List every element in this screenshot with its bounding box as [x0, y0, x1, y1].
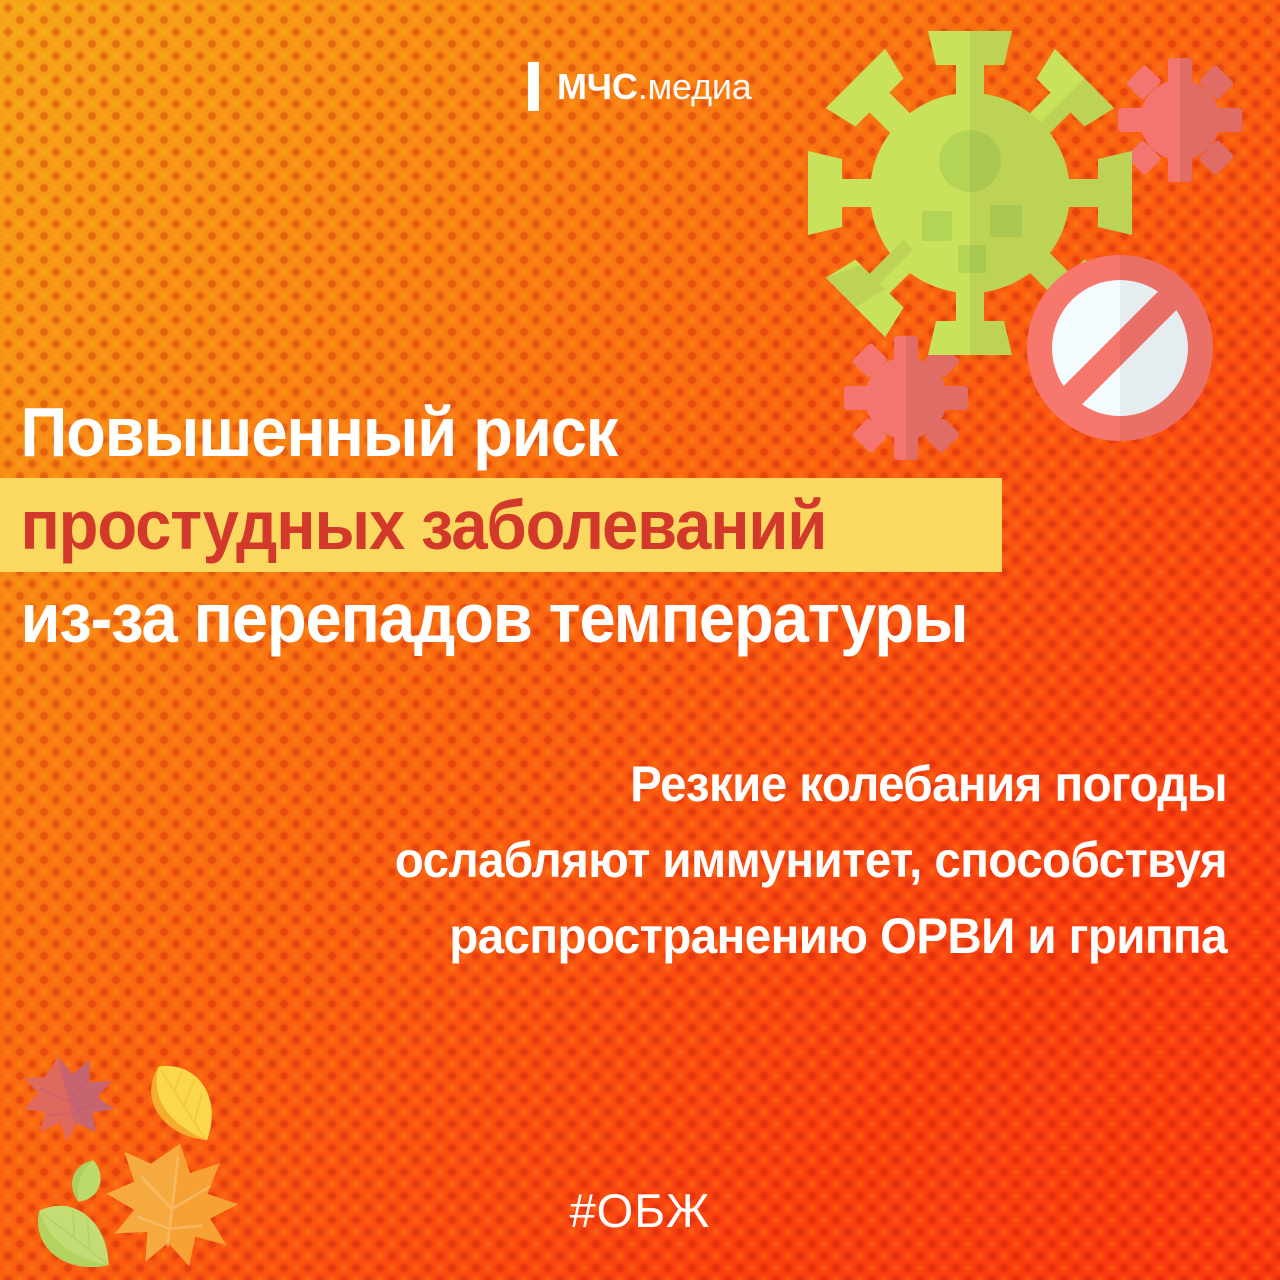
subheading-line-3: распространению ОРВИ и гриппа: [106, 898, 1227, 974]
headline-line-1: Повышенный риск: [0, 386, 1190, 478]
brand-logo[interactable]: МЧС.медиа: [528, 62, 752, 111]
poster-canvas: МЧС.медиа Повышенный риск простудных заб…: [0, 0, 1280, 1280]
headline-line-2-wrapper: простудных заболеваний: [0, 478, 1280, 572]
headline-block: Повышенный риск простудных заболеваний и…: [0, 386, 1280, 664]
subheading-block: Резкие колебания погоды ослабляют иммуни…: [47, 746, 1227, 974]
logo-bar-icon: [528, 62, 539, 111]
subheading-line-1: Резкие колебания погоды: [106, 746, 1227, 822]
logo-wordmark: МЧС.медиа: [557, 69, 752, 105]
headline-line-3: из-за перепадов температуры: [0, 572, 1190, 664]
hashtag-label: #ОБЖ: [0, 1183, 1280, 1238]
logo-wordmark-bold: МЧС: [557, 66, 638, 107]
subheading-line-2: ослабляют иммунитет, способствуя: [106, 822, 1227, 898]
headline-line-2: простудных заболеваний: [0, 478, 1190, 572]
logo-wordmark-light: .медиа: [638, 66, 752, 107]
